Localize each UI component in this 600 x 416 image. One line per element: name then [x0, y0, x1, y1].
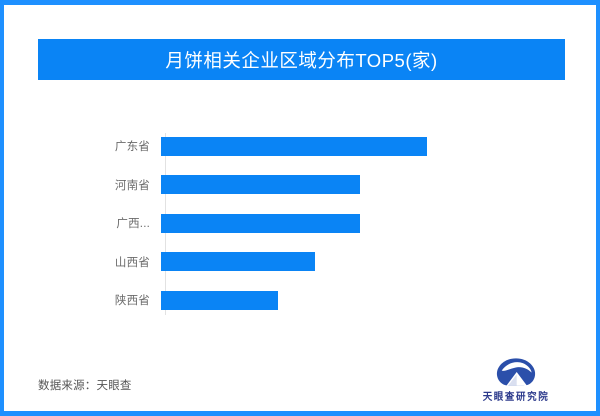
- category-label: 广东省: [38, 138, 158, 154]
- bar[interactable]: [161, 175, 360, 194]
- bar-track: [158, 166, 565, 205]
- bar[interactable]: [161, 214, 360, 233]
- category-label: 山西省: [38, 254, 158, 270]
- page-title: 月饼相关企业区域分布TOP5(家): [165, 47, 437, 73]
- chart-title-band: 月饼相关企业区域分布TOP5(家): [38, 39, 565, 80]
- bar-track: [158, 127, 565, 166]
- chart-row: 陕西省: [38, 281, 565, 320]
- chart-card: 月饼相关企业区域分布TOP5(家) 广东省 河南省 广西...: [0, 0, 600, 416]
- tianyancha-eye-icon: [495, 357, 537, 387]
- brand-logo: 天眼查研究院: [468, 357, 564, 407]
- category-label: 陕西省: [38, 292, 158, 308]
- category-label: 广西...: [38, 215, 158, 231]
- bar-track: [158, 243, 565, 282]
- chart-row: 广东省: [38, 127, 565, 166]
- data-source-note: 数据来源：天眼查: [38, 377, 132, 393]
- chart-row: 广西...: [38, 204, 565, 243]
- bar-track: [158, 281, 565, 320]
- brand-logo-text: 天眼查研究院: [483, 389, 550, 404]
- bar[interactable]: [161, 137, 427, 156]
- chart-row: 河南省: [38, 166, 565, 205]
- bar-track: [158, 204, 565, 243]
- chart-plot-area: 广东省 河南省 广西... 山西省: [38, 127, 565, 319]
- bar-chart: 广东省 河南省 广西... 山西省: [38, 115, 565, 330]
- category-label: 河南省: [38, 177, 158, 193]
- chart-row: 山西省: [38, 243, 565, 282]
- bar[interactable]: [161, 252, 315, 271]
- bar[interactable]: [161, 291, 278, 310]
